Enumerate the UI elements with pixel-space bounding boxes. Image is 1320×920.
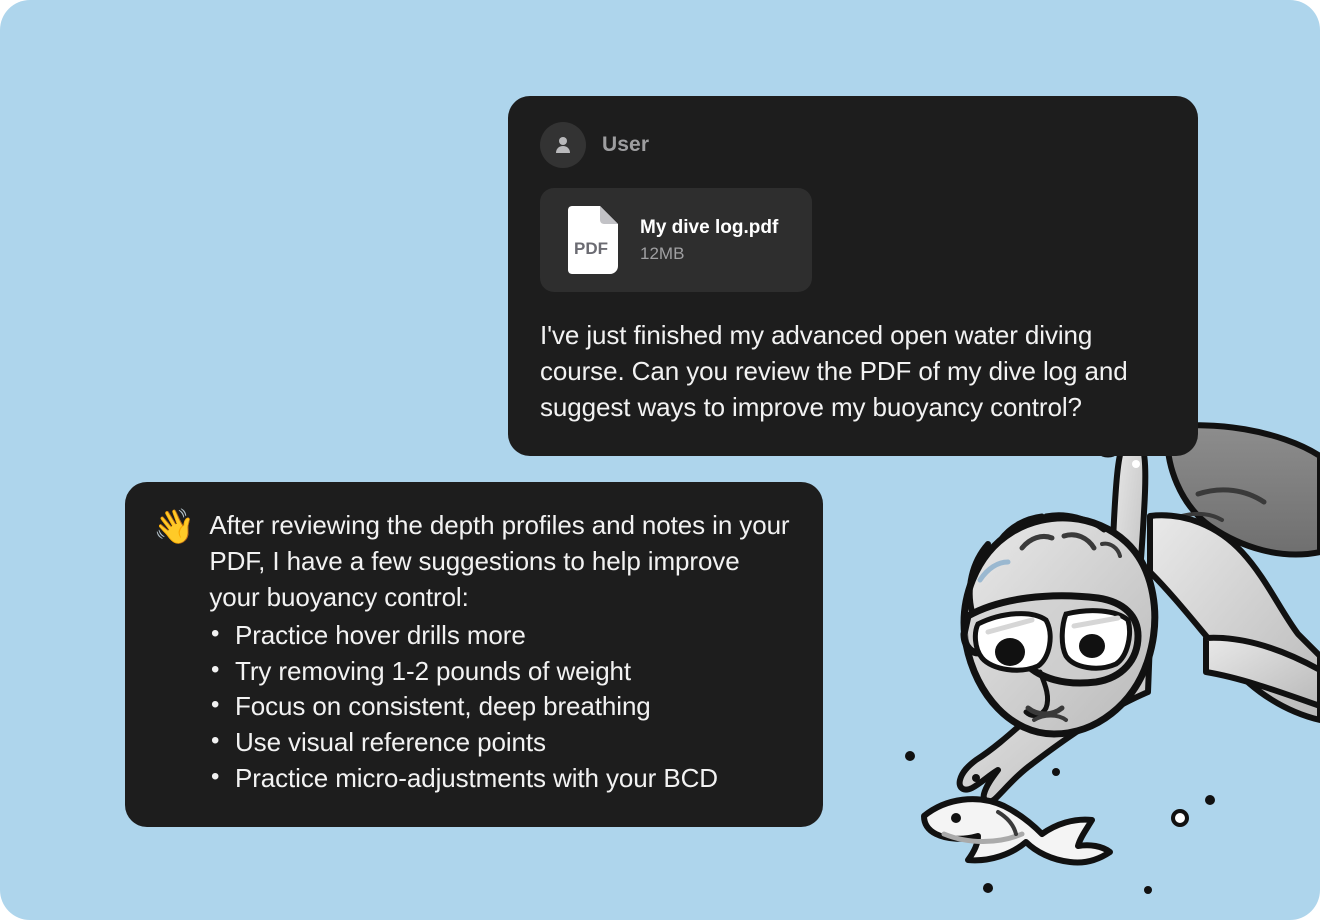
avatar	[540, 122, 586, 168]
waving-hand-icon: 👋	[153, 508, 195, 546]
user-header: User	[540, 122, 1166, 168]
file-size: 12MB	[640, 244, 778, 264]
pdf-attachment-card[interactable]: PDF My dive log.pdf 12MB	[540, 188, 812, 292]
suggestion-item: Use visual reference points	[211, 725, 793, 761]
assistant-intro: 👋 After reviewing the depth profiles and…	[153, 508, 793, 616]
svg-text:PDF: PDF	[574, 239, 608, 258]
file-name: My dive log.pdf	[640, 216, 778, 240]
user-message-bubble: User PDF My dive log.pdf 12MB I've just …	[508, 96, 1198, 456]
suggestion-item: Focus on consistent, deep breathing	[211, 689, 793, 725]
user-message-text: I've just finished my advanced open wate…	[540, 318, 1166, 426]
user-name-label: User	[602, 133, 649, 157]
suggestion-item: Practice hover drills more	[211, 618, 793, 654]
file-meta: My dive log.pdf 12MB	[640, 216, 778, 265]
suggestion-item: Try removing 1-2 pounds of weight	[211, 654, 793, 690]
page-container: User PDF My dive log.pdf 12MB I've just …	[0, 0, 1320, 920]
pdf-file-icon: PDF	[562, 206, 618, 274]
suggestion-item: Practice micro-adjustments with your BCD	[211, 761, 793, 797]
snorkeler-illustration	[850, 420, 1320, 920]
assistant-message-bubble: 👋 After reviewing the depth profiles and…	[125, 482, 823, 827]
suggestion-list: Practice hover drills moreTry removing 1…	[153, 618, 793, 797]
person-icon	[551, 133, 575, 157]
assistant-intro-text: After reviewing the depth profiles and n…	[209, 508, 793, 616]
